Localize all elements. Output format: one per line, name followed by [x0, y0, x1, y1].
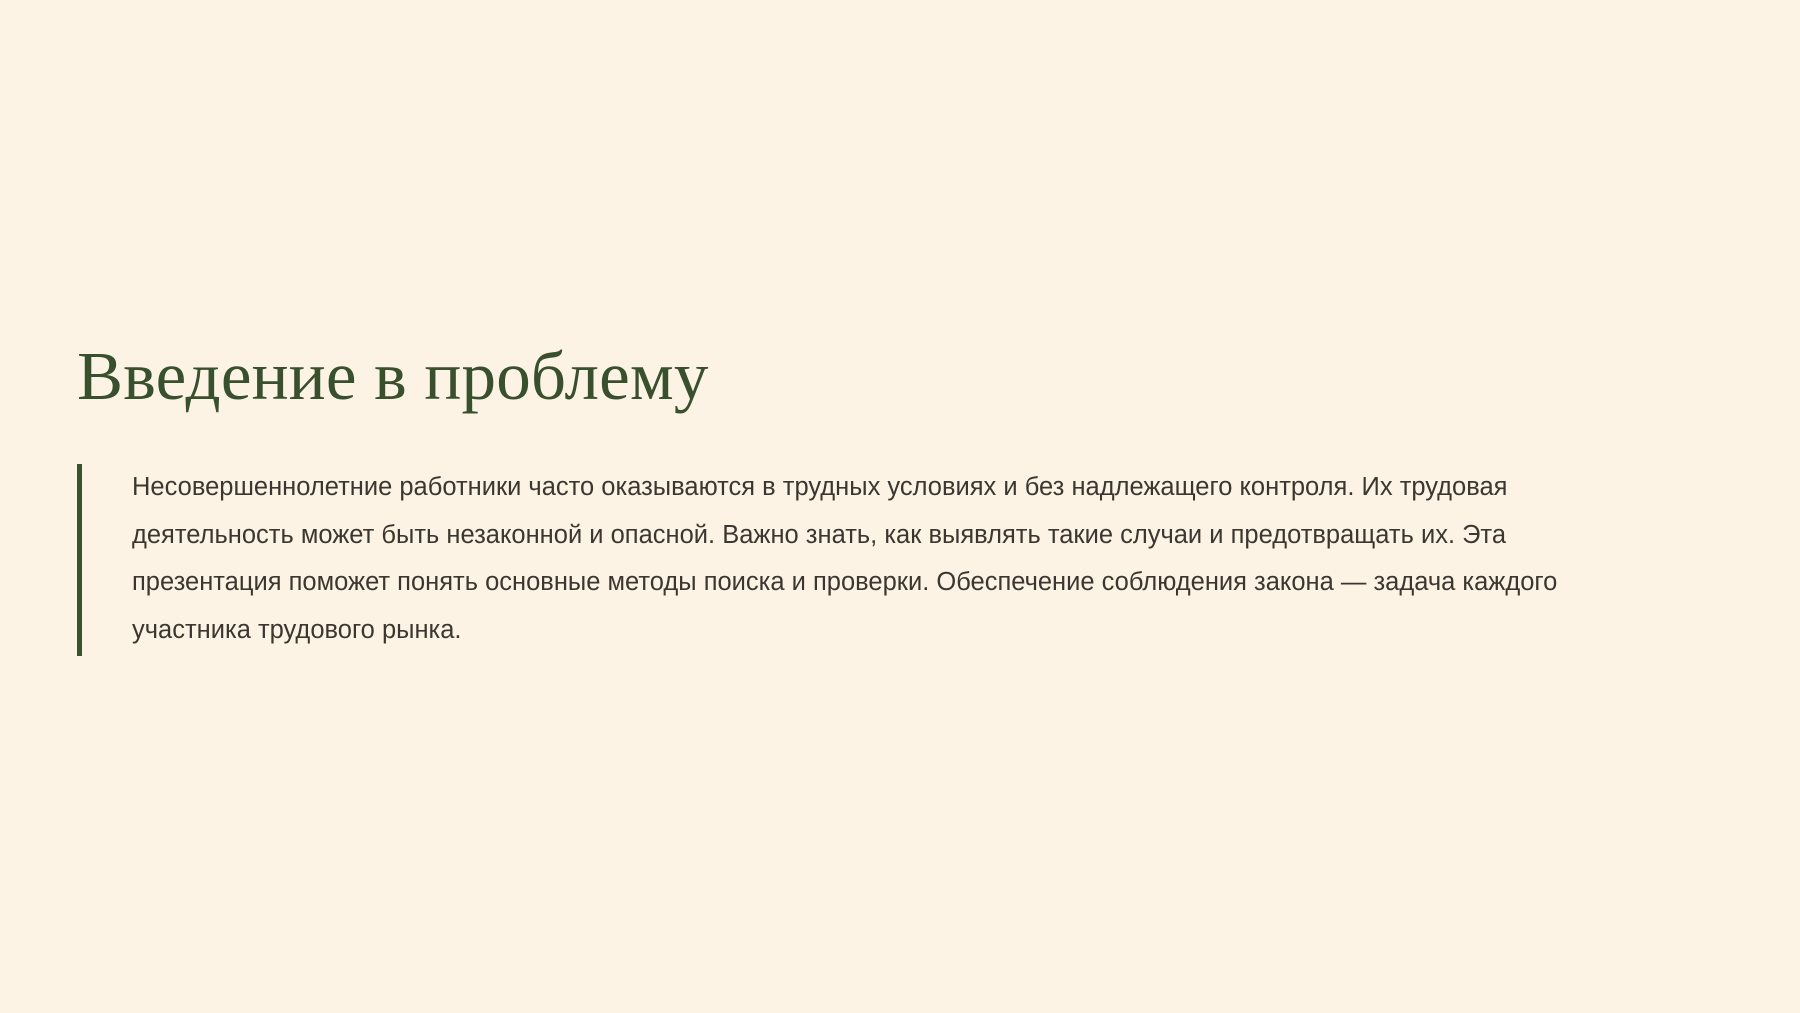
body-callout-block: Несовершеннолетние работники часто оказы… — [77, 464, 1697, 656]
accent-bar — [77, 464, 82, 656]
page-title: Введение в проблему — [77, 340, 1697, 412]
slide-content: Введение в проблему Несовершеннолетние р… — [77, 340, 1697, 656]
presentation-slide: Введение в проблему Несовершеннолетние р… — [0, 0, 1800, 1013]
body-paragraph: Несовершеннолетние работники часто оказы… — [132, 464, 1662, 654]
